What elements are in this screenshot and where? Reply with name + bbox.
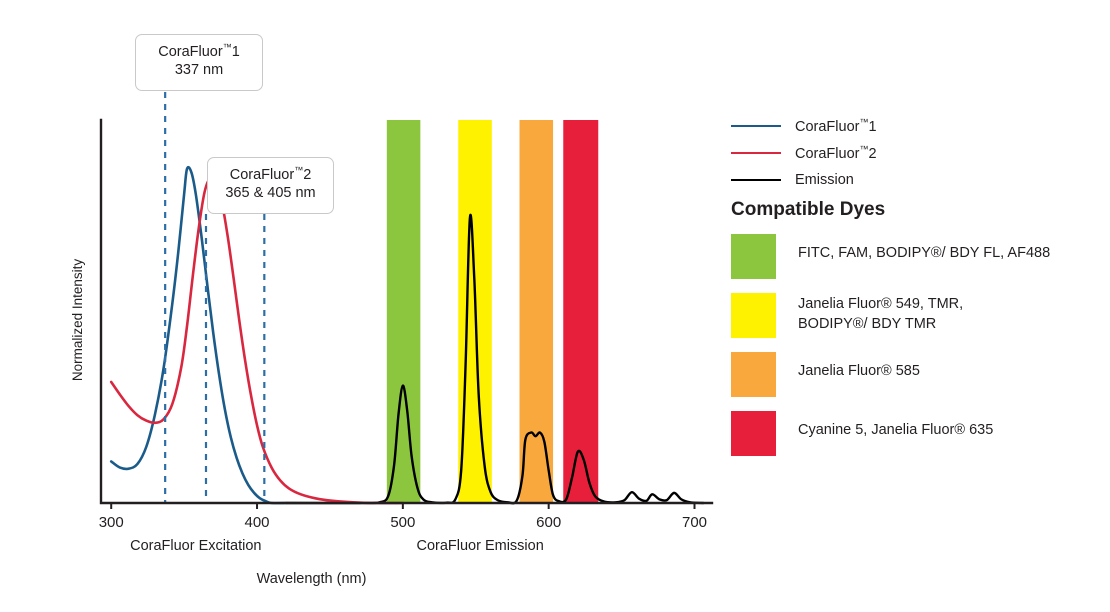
compatible-dyes-list: FITC, FAM, BODIPY®/ BDY FL, AF488Janelia… bbox=[731, 234, 1101, 470]
dye-color-swatch bbox=[731, 352, 776, 397]
legend-item-1: CoraFluor™1 bbox=[731, 112, 1091, 139]
callout-title-1: CoraFluor bbox=[158, 44, 222, 60]
dye-label: Janelia Fluor® 549, TMR,BODIPY®/ BDY TMR bbox=[798, 293, 963, 334]
trademark-symbol: ™ bbox=[294, 165, 303, 175]
emission-band-1 bbox=[387, 120, 421, 503]
legend-label: CoraFluor™2 bbox=[795, 144, 877, 162]
series-legend: CoraFluor™1CoraFluor™2Emission bbox=[731, 112, 1091, 193]
axis-sublabel-2: CoraFluor Emission bbox=[416, 538, 543, 554]
x-tick-label-600: 600 bbox=[536, 514, 561, 531]
dye-color-swatch bbox=[731, 234, 776, 279]
dye-label: FITC, FAM, BODIPY®/ BDY FL, AF488 bbox=[798, 234, 1050, 264]
dye-color-swatch bbox=[731, 293, 776, 338]
dye-item-3: Janelia Fluor® 585 bbox=[731, 352, 1101, 397]
x-axis-title: Wavelength (nm) bbox=[257, 571, 367, 587]
dye-label: Cyanine 5, Janelia Fluor® 635 bbox=[798, 411, 993, 441]
emission-band-4 bbox=[563, 120, 598, 503]
legend-item-3: Emission bbox=[731, 166, 1091, 193]
x-tick-label-500: 500 bbox=[390, 514, 415, 531]
curve-corafluor2 bbox=[111, 177, 403, 503]
curve-emission bbox=[286, 215, 703, 503]
y-axis-title: Normalized Intensity bbox=[70, 259, 85, 382]
dye-label: Janelia Fluor® 585 bbox=[798, 352, 920, 382]
compatible-dyes-heading: Compatible Dyes bbox=[731, 199, 885, 221]
trademark-symbol: ™ bbox=[223, 42, 232, 52]
legend-line-swatch bbox=[731, 179, 781, 181]
callout-corafluor2: CoraFluor™2 365 & 405 nm bbox=[207, 157, 334, 214]
callout-value-1: 337 nm bbox=[148, 61, 250, 80]
callout-index-2: 2 bbox=[303, 167, 311, 183]
dye-color-swatch bbox=[731, 411, 776, 456]
legend-line-swatch bbox=[731, 152, 781, 154]
x-tick-label-700: 700 bbox=[682, 514, 707, 531]
legend-line-swatch bbox=[731, 125, 781, 127]
dye-item-4: Cyanine 5, Janelia Fluor® 635 bbox=[731, 411, 1101, 456]
dye-item-1: FITC, FAM, BODIPY®/ BDY FL, AF488 bbox=[731, 234, 1101, 279]
curve-corafluor1 bbox=[111, 167, 286, 503]
axis-sublabel-1: CoraFluor Excitation bbox=[130, 538, 261, 554]
legend-label: Emission bbox=[795, 172, 854, 188]
legend-item-2: CoraFluor™2 bbox=[731, 139, 1091, 166]
dye-item-2: Janelia Fluor® 549, TMR,BODIPY®/ BDY TMR bbox=[731, 293, 1101, 338]
x-tick-label-400: 400 bbox=[245, 514, 270, 531]
callout-corafluor1: CoraFluor™1 337 nm bbox=[135, 34, 263, 91]
callout-index-1: 1 bbox=[232, 44, 240, 60]
callout-title-2: CoraFluor bbox=[230, 167, 294, 183]
legend-label: CoraFluor™1 bbox=[795, 117, 877, 135]
chart-page: 300400500600700CoraFluor ExcitationCoraF… bbox=[0, 0, 1110, 612]
x-tick-label-300: 300 bbox=[99, 514, 124, 531]
callout-value-2: 365 & 405 nm bbox=[220, 184, 321, 203]
